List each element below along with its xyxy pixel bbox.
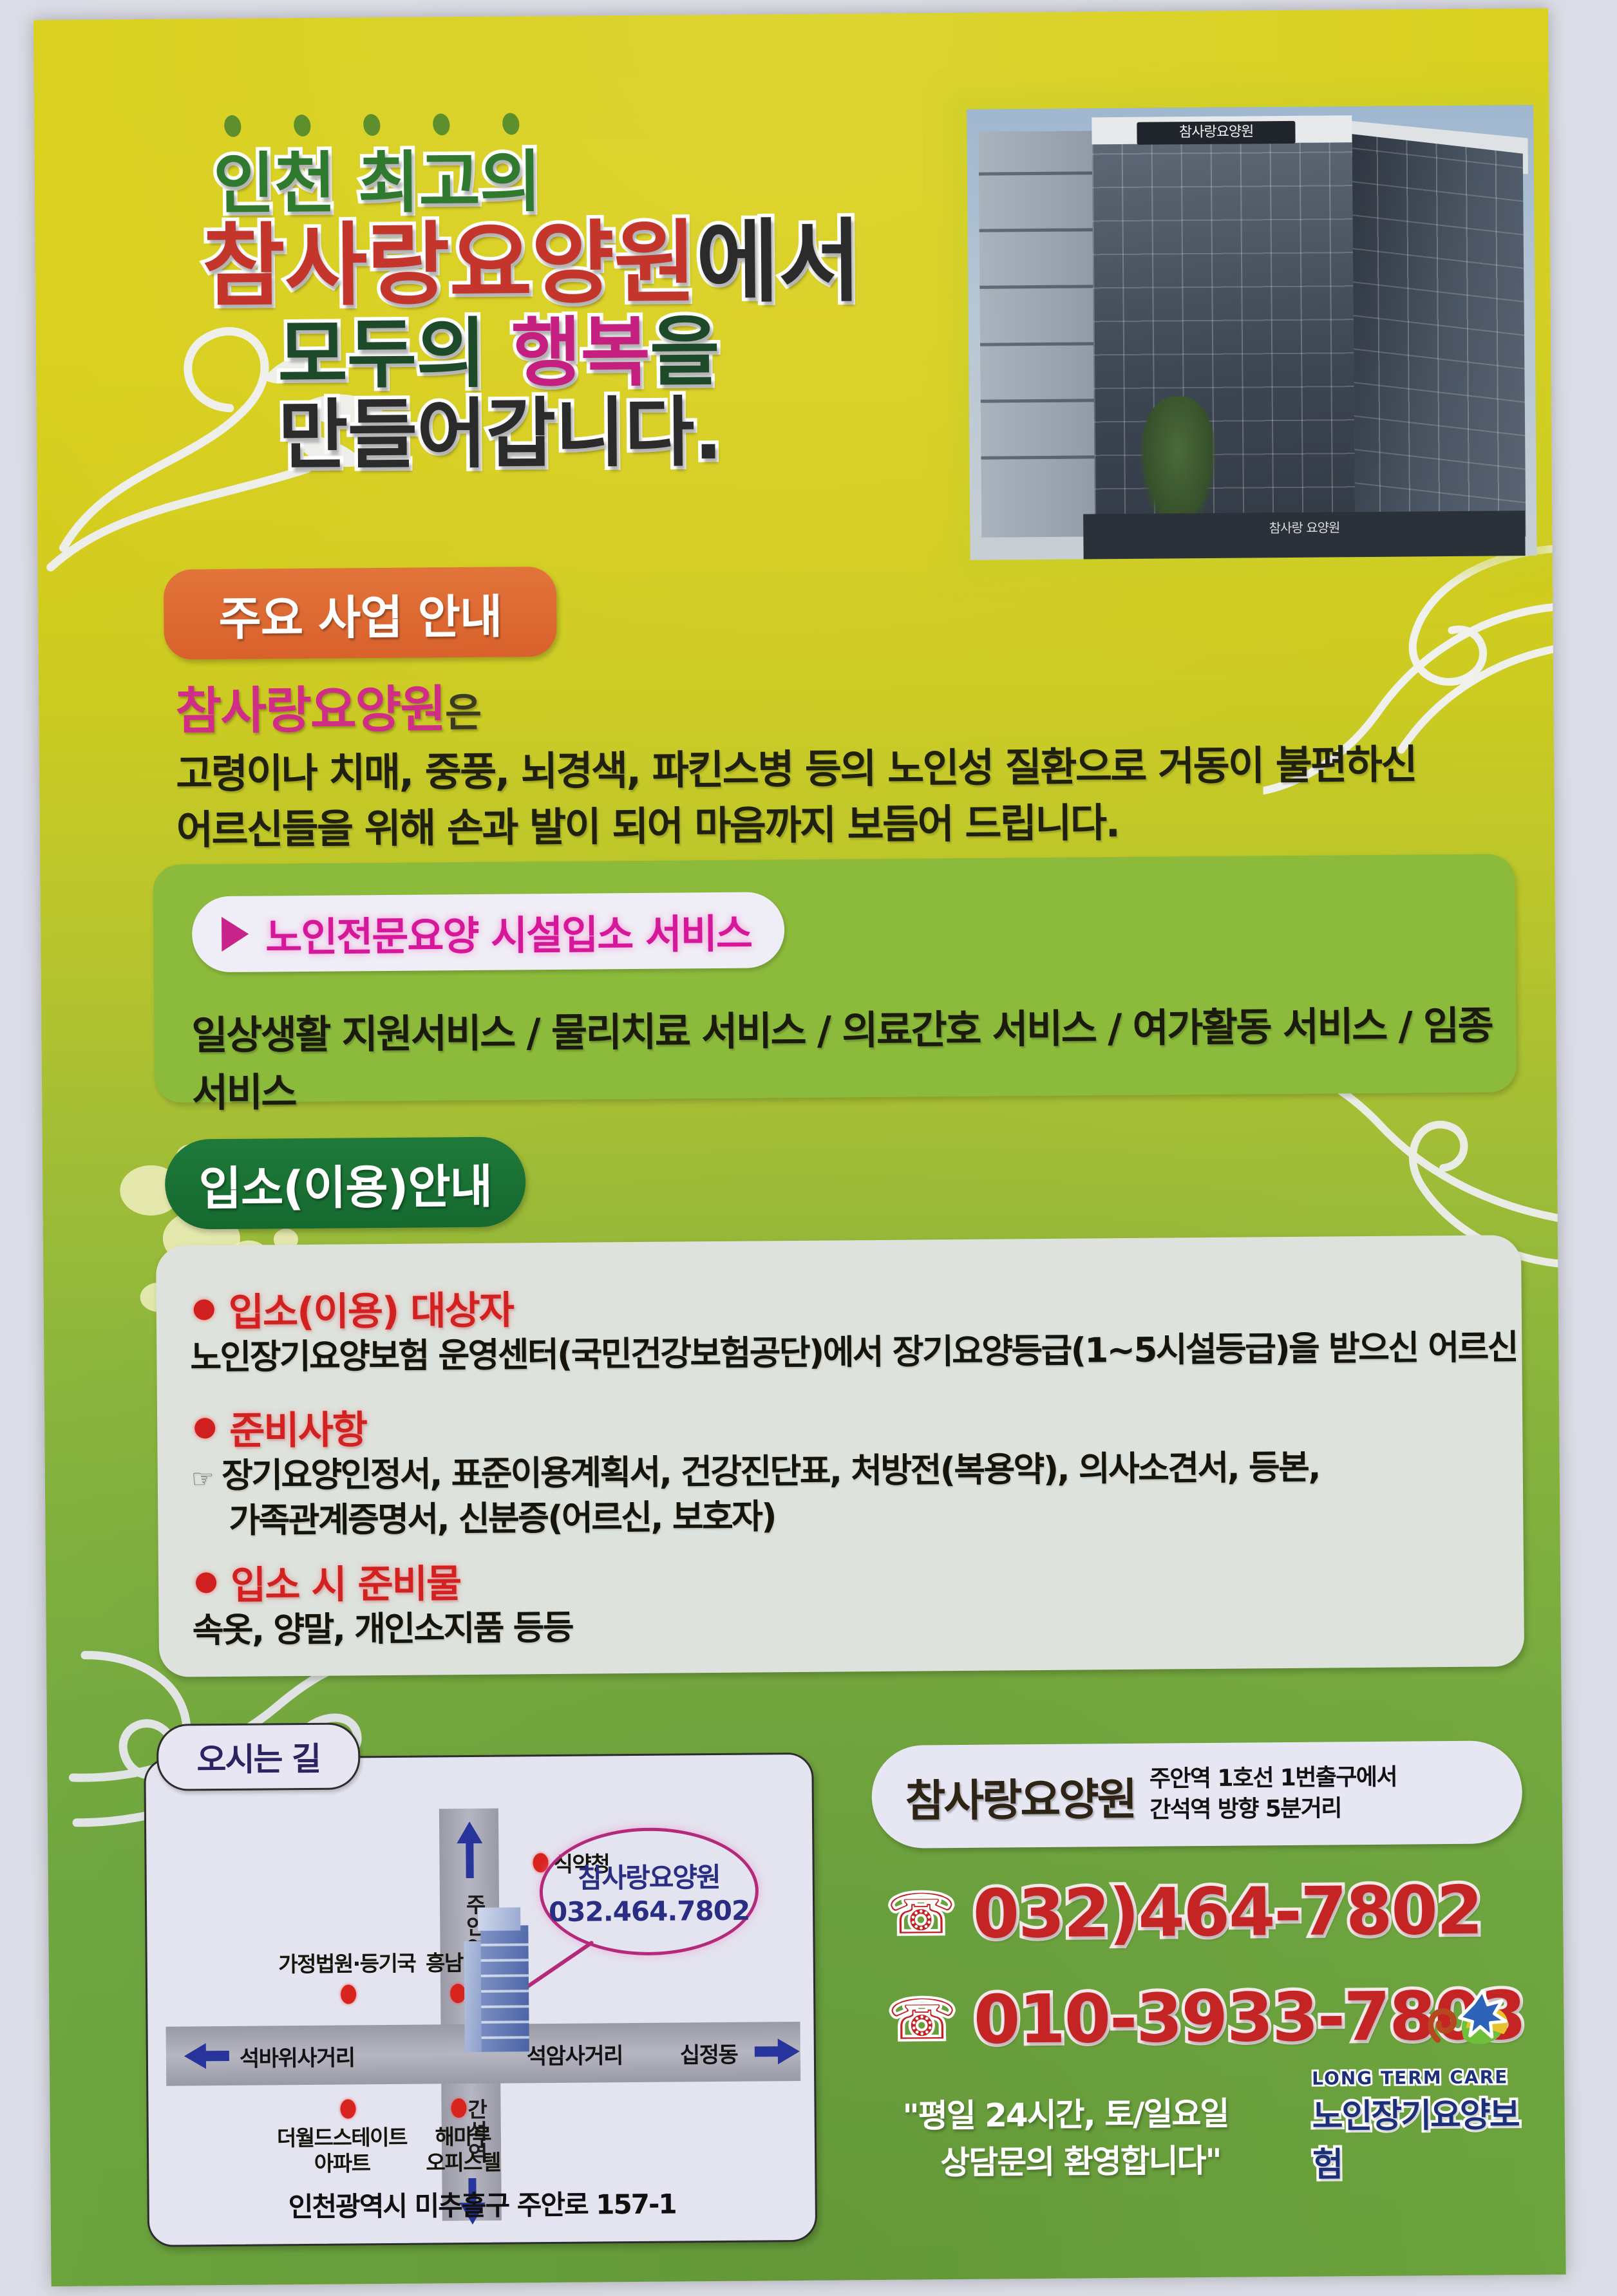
intro-block: 참사랑요양원은 고령이나 치매, 중풍, 뇌경색, 파킨스병 등의 노인성 질환… <box>175 670 1509 856</box>
ltc-logo-mark <box>1311 1989 1524 2068</box>
headline-happiness-word: 행복 <box>511 307 650 397</box>
flyer-photo-canvas: 인천 최고의 참사랑요양원에서 모두의 행복을 만들어갑니다. 참사랑요양원 <box>0 0 1617 2296</box>
map-label-text: 오시는 길 <box>196 1733 320 1781</box>
intro-org-name: 참사랑요양원 <box>175 681 445 740</box>
map-road-label-center: 석암사거리 <box>527 2038 623 2070</box>
map-label-badge: 오시는 길 <box>156 1722 361 1791</box>
service-banner-label: 노인전문요양 시설입소 서비스 <box>265 901 752 963</box>
map-callout-name: 참사랑요양원 <box>578 1856 720 1896</box>
headline-line-1: 인천 최고의 <box>213 143 927 220</box>
headline-line-3-a: 모두의 <box>278 308 486 399</box>
headline-org-name: 참사랑요양원 <box>202 211 696 319</box>
bullet-heading-items: 입소 시 준비물 <box>196 1552 461 1610</box>
contact-directions: 주안역 1호선 1번출구에서 간석역 방향 5분거리 <box>1149 1762 1397 1825</box>
intro-lead: 참사랑요양원은 <box>175 670 1509 744</box>
bullet-title-preparation: 준비사항 <box>229 1398 366 1456</box>
map-poi-dot <box>451 2098 466 2118</box>
pointing-hand-icon: ☞ <box>191 1464 213 1494</box>
service-card: 노인전문요양 시설입소 서비스 일상생활 지원서비스 / 물리치료 서비스 / … <box>153 854 1517 1103</box>
directions-map: 오시는 길 주안역 간석역 식약청 가정법원·등기국 <box>144 1753 817 2247</box>
red-dot-icon <box>196 1572 216 1593</box>
photo-front-facade <box>1092 142 1355 523</box>
bullet-title-items: 입소 시 준비물 <box>231 1552 461 1610</box>
headline-line-3-b: 을 <box>649 307 719 397</box>
map-arrow-right-icon <box>752 2037 802 2067</box>
long-term-care-logo: LONG TERM CARE 노인장기요양보험 <box>1311 1989 1525 2186</box>
phone-number-landline[interactable]: 032)464-7802 <box>972 1871 1482 1953</box>
bullet-heading-preparation: 준비사항 <box>194 1398 366 1456</box>
bullet-body-preparation-1: ☞장기요양인정서, 표준이용계획서, 건강진단표, 처방전(복용약), 의사소견… <box>191 1447 1320 1499</box>
intro-line-1: 고령이나 치매, 중풍, 뇌경색, 파킨스병 등의 노인성 질환으로 거동이 불… <box>176 737 1509 800</box>
headline-line-3: 모두의 행복을 <box>278 310 929 395</box>
telephone-icon: ☏ <box>887 1988 957 2053</box>
map-callout-bubble: 참사랑요양원 032.464.7802 <box>539 1827 759 1956</box>
section-header-admission: 입소(이용)안내 <box>165 1136 526 1229</box>
service-banner: 노인전문요양 시설입소 서비스 <box>192 892 785 972</box>
triangle-bullet-icon <box>222 917 249 952</box>
map-road-label-left: 석바위사거리 <box>240 2040 355 2072</box>
photo-ground-floor-sign: 참사랑 요양원 <box>1083 511 1526 559</box>
admission-card: 입소(이용) 대상자 노인장기요양보험 운영센터(국민건강보험공단)에서 장기요… <box>156 1235 1524 1677</box>
map-callout-phone: 032.464.7802 <box>549 1895 750 1928</box>
service-list: 일상생활 지원서비스 / 물리치료 서비스 / 의료간호 서비스 / 여가활동 … <box>191 993 1517 1118</box>
building-photo: 참사랑요양원 참사랑 요양원 <box>967 105 1537 560</box>
map-building-icon <box>464 1903 542 2052</box>
contact-directions-line-1: 주안역 1호선 1번출구에서 <box>1149 1764 1397 1793</box>
contact-name-bar: 참사랑요양원 주안역 1호선 1번출구에서 간석역 방향 5분거리 <box>871 1740 1522 1849</box>
contact-org-name: 참사랑요양원 <box>905 1763 1135 1829</box>
headline-line-2-tail: 에서 <box>695 209 861 315</box>
map-address: 인천광역시 미추홀구 주안로 157-1 <box>149 2181 815 2226</box>
photo-ground-sign-text: 참사랑 요양원 <box>1083 511 1526 545</box>
photo-roof-sign: 참사랑요양원 <box>1137 121 1296 145</box>
photo-right-facade <box>1347 133 1526 536</box>
contact-block: 참사랑요양원 주안역 1호선 1번출구에서 간석역 방향 5분거리 ☏ 032)… <box>871 1740 1531 2187</box>
headline-line-2: 참사랑요양원에서 <box>202 214 927 315</box>
red-dot-icon <box>194 1299 214 1320</box>
map-road-label-right: 십정동 <box>680 2037 738 2069</box>
photo-roof-sign-text: 참사랑요양원 <box>1137 121 1296 144</box>
phone-row-landline[interactable]: ☏ 032)464-7802 <box>887 1870 1530 1954</box>
contact-directions-line-2: 간석역 방향 5분거리 <box>1149 1795 1341 1823</box>
intro-line-2: 어르신들을 위해 손과 발이 되어 마음까지 보듬어 드립니다. <box>176 794 1510 857</box>
map-canvas: 주안역 간석역 식약청 가정법원·등기국 흥남면옥 더월드스테이트 아파트 해마… <box>144 1753 817 2247</box>
preparation-docs-line-1: 장기요양인정서, 표준이용계획서, 건강진단표, 처방전(복용약), 의사소견서… <box>222 1448 1319 1496</box>
quote-line-1: "평일 24시간, 토/일요일 <box>902 2095 1228 2135</box>
map-arrow-left-icon <box>182 2041 232 2071</box>
bullet-body-preparation-2: 가족관계증명서, 신분증(어르신, 보호자) <box>229 1496 775 1543</box>
bullet-title-eligibility: 입소(이용) 대상자 <box>228 1279 513 1337</box>
headline-dots <box>224 109 926 137</box>
intro-org-particle: 은 <box>445 689 481 736</box>
map-poi-dot <box>341 1984 356 2004</box>
map-poi-dot <box>340 2099 355 2118</box>
red-dot-icon <box>194 1418 215 1438</box>
map-poi-dot <box>450 1984 466 2003</box>
headline-block: 인천 최고의 참사랑요양원에서 모두의 행복을 만들어갑니다. <box>198 109 929 476</box>
telephone-icon: ☏ <box>887 1882 956 1947</box>
map-poi-label-haemaru: 해마루 오피스텔 <box>399 2123 528 2176</box>
bullet-body-items: 속옷, 양말, 개인소지품 등등 <box>192 1607 572 1653</box>
map-arrow-up-icon <box>454 1819 486 1881</box>
bullet-heading-eligibility: 입소(이용) 대상자 <box>193 1279 513 1337</box>
section-header-main-business: 주요 사업 안내 <box>164 567 557 660</box>
ltc-logo-english: LONG TERM CARE <box>1312 2066 1524 2089</box>
headline-line-4: 만들어갑니다. <box>278 390 929 476</box>
ltc-logo-korean: 노인장기요양보험 <box>1312 2087 1525 2186</box>
photo-tree <box>1139 396 1218 532</box>
nursing-home-flyer: 인천 최고의 참사랑요양원에서 모두의 행복을 만들어갑니다. 참사랑요양원 <box>33 8 1566 2286</box>
